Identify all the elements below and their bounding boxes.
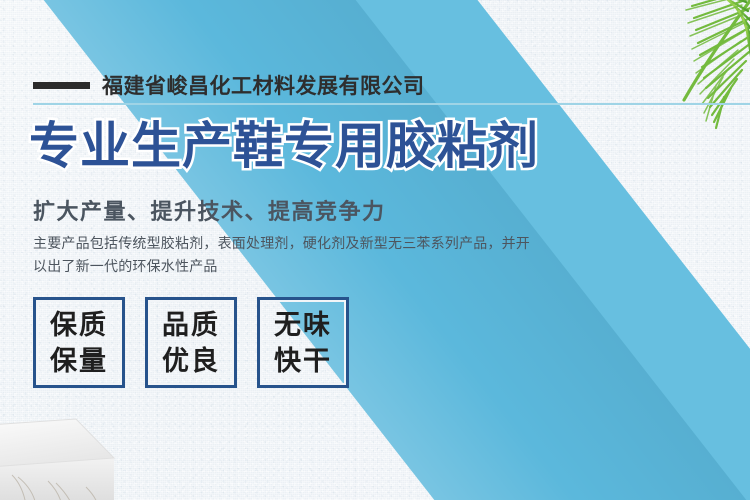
feature-tag-line2: 快干: [274, 344, 332, 378]
feature-tag-list: 保质 保量 品质 优良 无味 快干: [33, 297, 349, 388]
feature-tag: 保质 保量: [33, 297, 125, 388]
subheadline: 扩大产量、提升技术、提高竞争力: [33, 194, 386, 226]
company-row: 福建省峻昌化工材料发展有限公司: [33, 70, 425, 100]
body-copy: 主要产品包括传统型胶粘剂，表面处理剂，硬化剂及新型无三苯系列产品，并开以出了新一…: [33, 232, 543, 278]
divider-rule: [33, 103, 750, 105]
feature-tag-line2: 优良: [162, 344, 220, 378]
feature-tag: 无味 快干: [257, 297, 349, 388]
feature-tag-line1: 无味: [274, 308, 332, 342]
company-name: 福建省峻昌化工材料发展有限公司: [102, 70, 425, 100]
promo-banner: 福建省峻昌化工材料发展有限公司 专业生产鞋专用胶粘剂 扩大产量、提升技术、提高竞…: [0, 0, 750, 500]
headline: 专业生产鞋专用胶粘剂: [29, 121, 539, 171]
feature-tag-line1: 保质: [50, 308, 108, 342]
banner-content: 福建省峻昌化工材料发展有限公司 专业生产鞋专用胶粘剂 扩大产量、提升技术、提高竞…: [33, 0, 750, 500]
feature-tag: 品质 优良: [145, 297, 237, 388]
feature-tag-line1: 品质: [162, 308, 220, 342]
dash-marker-icon: [33, 82, 90, 89]
feature-tag-line2: 保量: [50, 344, 108, 378]
